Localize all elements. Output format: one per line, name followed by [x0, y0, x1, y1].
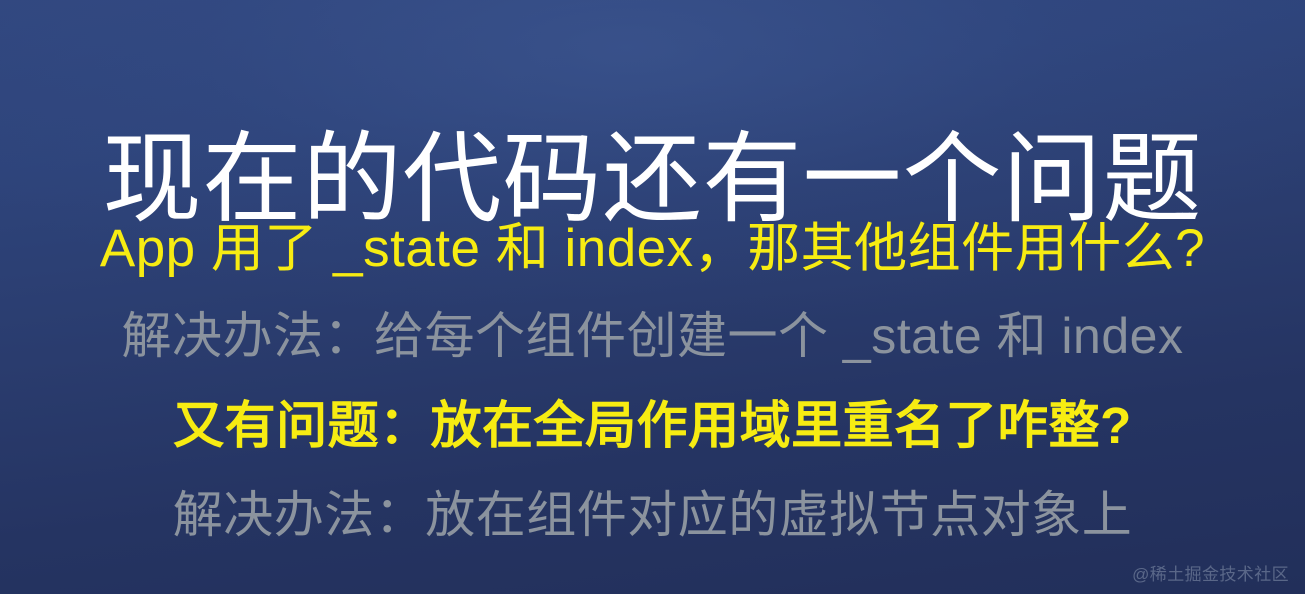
text-line-question-2: 又有问题：放在全局作用域里重名了咋整? [0, 394, 1305, 458]
slide-canvas: 现在的代码还有一个问题 App 用了 _state 和 index，那其他组件用… [0, 0, 1305, 594]
text-line-question-1: App 用了 _state 和 index，那其他组件用什么? [0, 216, 1305, 282]
watermark: @稀土掘金技术社区 [1132, 560, 1289, 585]
text-line-solution-2: 解决办法：放在组件对应的虚拟节点对象上 [0, 484, 1305, 547]
slide-content: 现在的代码还有一个问题 App 用了 _state 和 index，那其他组件用… [0, 0, 1305, 594]
text-line-solution-1: 解决办法：给每个组件创建一个 _state 和 index [0, 305, 1305, 368]
